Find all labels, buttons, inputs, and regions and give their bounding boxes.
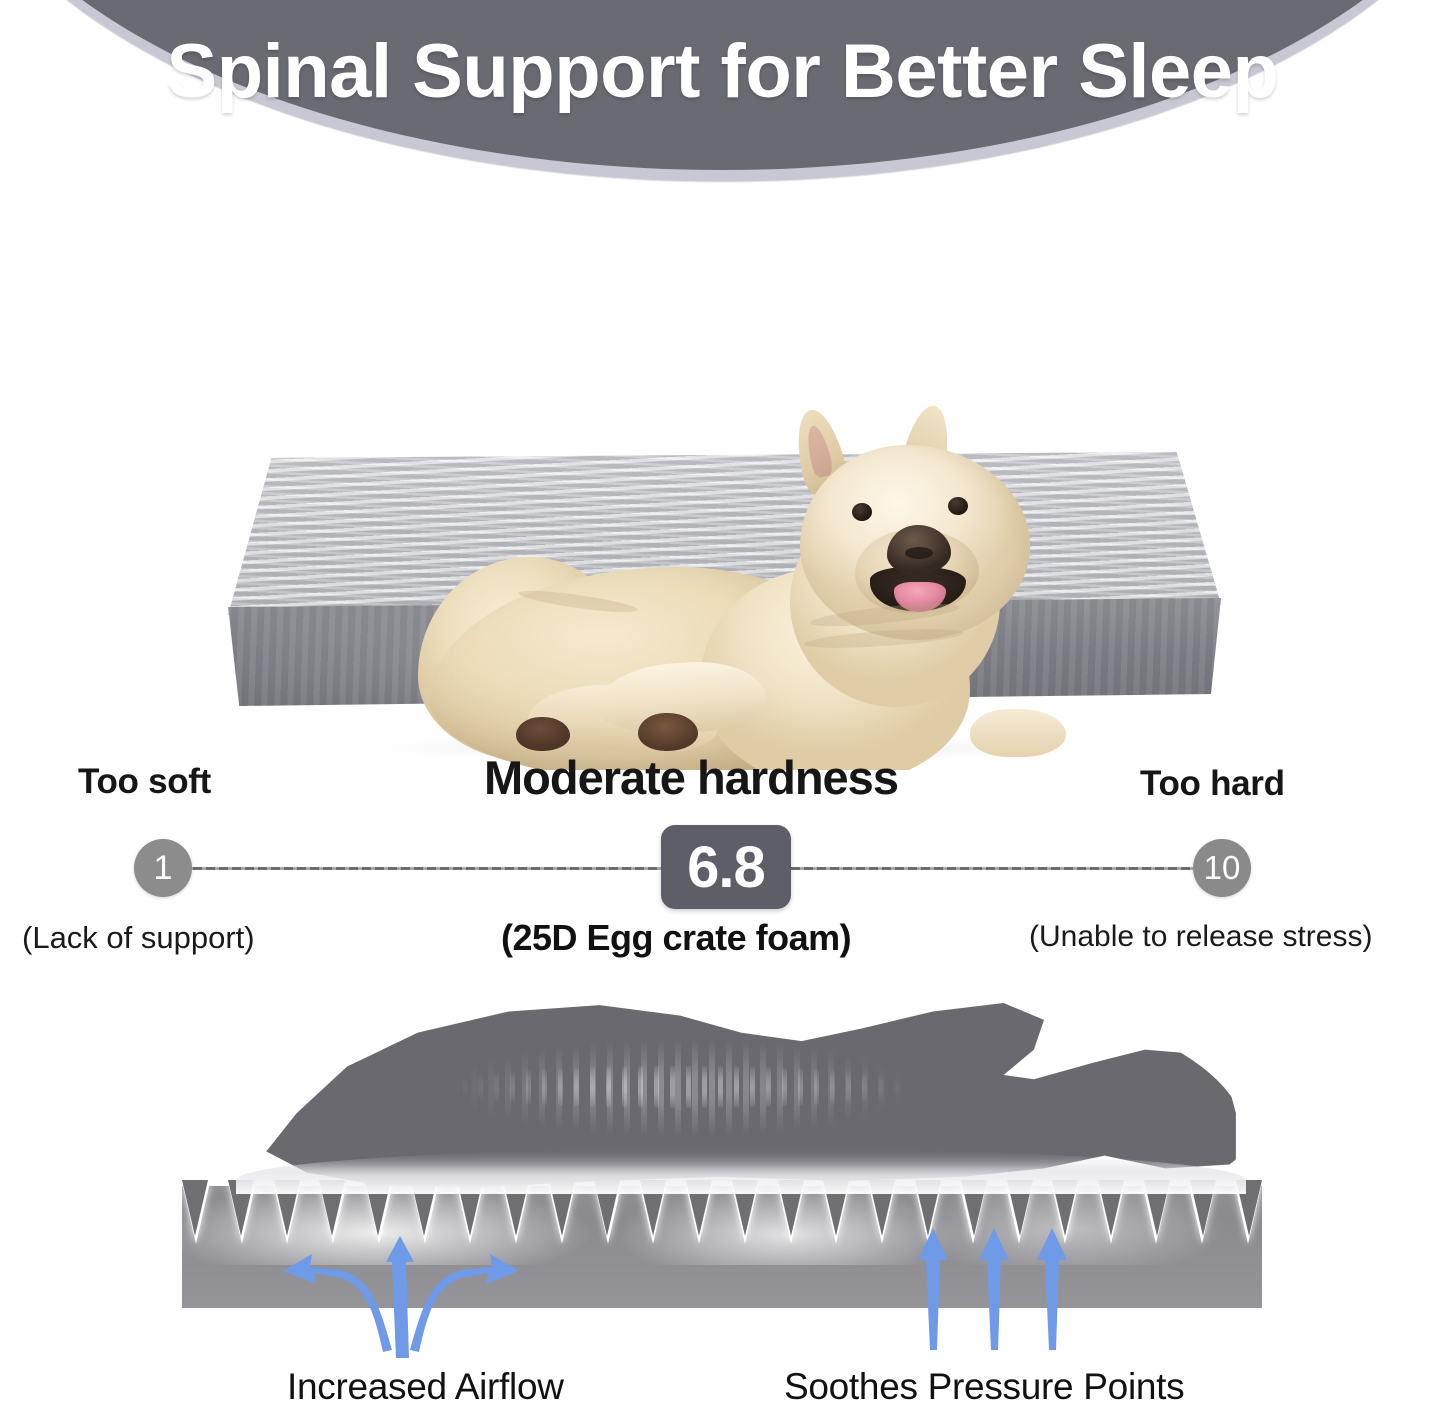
- scale-label-left: Too soft: [78, 762, 211, 802]
- caption-airflow: Increased Airflow: [287, 1366, 564, 1408]
- dog-nose: [887, 525, 951, 575]
- page-title: Spinal Support for Better Sleep: [0, 28, 1445, 115]
- hardness-scale: Too soft Moderate hardness Too hard 1 6.…: [0, 762, 1445, 962]
- spine-texture-core: [430, 1066, 930, 1108]
- scale-label-right: Too hard: [1140, 764, 1285, 804]
- scale-marker-current: 6.8: [661, 825, 791, 909]
- dog-eye-left: [852, 503, 872, 521]
- cross-section-diagram: Increased Airflow Soothes Pressure Point…: [0, 978, 1445, 1418]
- caption-pressure: Soothes Pressure Points: [784, 1366, 1184, 1408]
- scale-marker-max: 10: [1193, 839, 1251, 897]
- dog-photo: [400, 417, 1080, 770]
- dog-paw-right: [970, 709, 1066, 757]
- dog-paw-left: [516, 717, 570, 751]
- dog-eye-right: [948, 497, 968, 515]
- product-photo: OhGeni: [0, 195, 1445, 770]
- scale-marker-min: 1: [134, 839, 192, 897]
- scale-note-left: (Lack of support): [22, 920, 255, 956]
- dog-paw-center: [638, 713, 698, 751]
- scale-label-center: Moderate hardness: [484, 750, 898, 805]
- header-banner: Spinal Support for Better Sleep: [0, 0, 1445, 215]
- scale-note-right: (Unable to release stress): [1029, 920, 1372, 954]
- scale-note-center: (25D Egg crate foam): [501, 917, 851, 959]
